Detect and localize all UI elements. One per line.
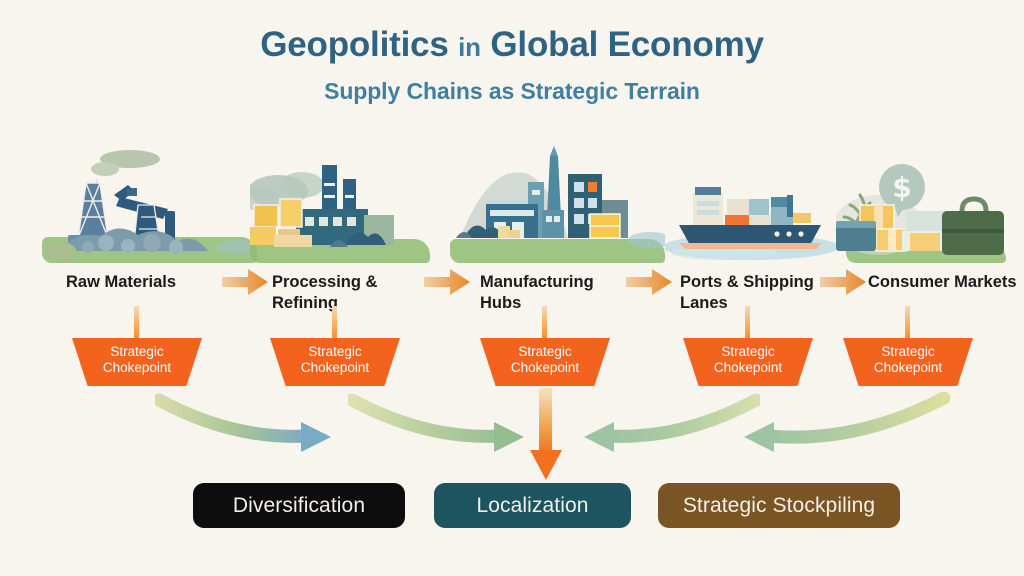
chokepoint-badge-manufacturing[interactable]: Strategic Chokepoint (480, 338, 610, 386)
stage-label-consumer[interactable]: Consumer Markets (868, 272, 1018, 293)
stage-label-manufacturing[interactable]: Manufacturing Hubs (480, 272, 630, 314)
chokepoint-stem (134, 306, 139, 338)
chokepoint-stem (745, 306, 750, 338)
strategy-pill-diversification[interactable]: Diversification (193, 483, 405, 528)
scene-processing (250, 143, 430, 263)
title-connector: in (458, 32, 481, 62)
stage-label-processing[interactable]: Processing & Refining (272, 272, 422, 314)
oil-derrick-pumpjack-icon (42, 143, 257, 263)
curved-arrow-right-icon-2 (348, 392, 538, 462)
chokepoint-line-2: Chokepoint (511, 360, 579, 375)
curved-arrow-right-icon-1 (155, 392, 345, 462)
infographic-canvas: Geopolitics in Global Economy Supply Cha… (0, 0, 1024, 576)
stage-label-raw-materials[interactable]: Raw Materials (66, 272, 216, 293)
flow-arrow-icon-2 (424, 267, 472, 297)
boxes-briefcase-dollar-icon: $ (836, 137, 1016, 263)
scene-manufacturing (450, 138, 665, 263)
chokepoint-line-2: Chokepoint (874, 360, 942, 375)
flow-arrow-icon-1 (222, 267, 270, 297)
stage-label-ports[interactable]: Ports & Shipping Lanes (680, 272, 840, 314)
chokepoint-line-2: Chokepoint (103, 360, 171, 375)
flow-arrow-icon-3 (626, 267, 674, 297)
curved-arrow-left-icon-2 (720, 392, 950, 462)
chokepoint-stem (542, 306, 547, 338)
factory-buildings-icon (450, 138, 665, 263)
title-part-1: Geopolitics (260, 25, 448, 64)
chokepoint-line-1: Strategic (881, 344, 934, 359)
chokepoint-stem (905, 306, 910, 338)
chokepoint-line-1: Strategic (110, 344, 163, 359)
illustration-band: $ (0, 135, 1024, 263)
down-arrow-icon (528, 388, 564, 484)
chokepoint-stem (332, 306, 337, 338)
chokepoint-badge-processing[interactable]: Strategic Chokepoint (270, 338, 400, 386)
scene-ports (665, 143, 845, 263)
strategy-pill-strategic-stockpiling[interactable]: Strategic Stockpiling (658, 483, 900, 528)
chokepoint-line-2: Chokepoint (301, 360, 369, 375)
strategy-pill-localization[interactable]: Localization (434, 483, 631, 528)
header-block: Geopolitics in Global Economy Supply Cha… (0, 26, 1024, 105)
title-part-2: Global Economy (490, 25, 763, 64)
chokepoint-badge-raw-materials[interactable]: Strategic Chokepoint (72, 338, 202, 386)
scene-consumer: $ (836, 137, 1016, 263)
chokepoint-line-2: Chokepoint (714, 360, 782, 375)
svg-text:$: $ (892, 171, 911, 204)
container-ship-icon (665, 143, 845, 263)
chokepoint-badge-consumer[interactable]: Strategic Chokepoint (843, 338, 973, 386)
refinery-smokestacks-icon (250, 143, 430, 263)
scene-raw-materials (42, 143, 257, 263)
chokepoint-line-1: Strategic (308, 344, 361, 359)
page-subtitle: Supply Chains as Strategic Terrain (0, 78, 1024, 105)
chokepoint-badge-ports[interactable]: Strategic Chokepoint (683, 338, 813, 386)
chokepoint-line-1: Strategic (721, 344, 774, 359)
chokepoint-line-1: Strategic (518, 344, 571, 359)
page-title: Geopolitics in Global Economy (0, 26, 1024, 65)
flow-arrow-icon-4 (820, 267, 868, 297)
